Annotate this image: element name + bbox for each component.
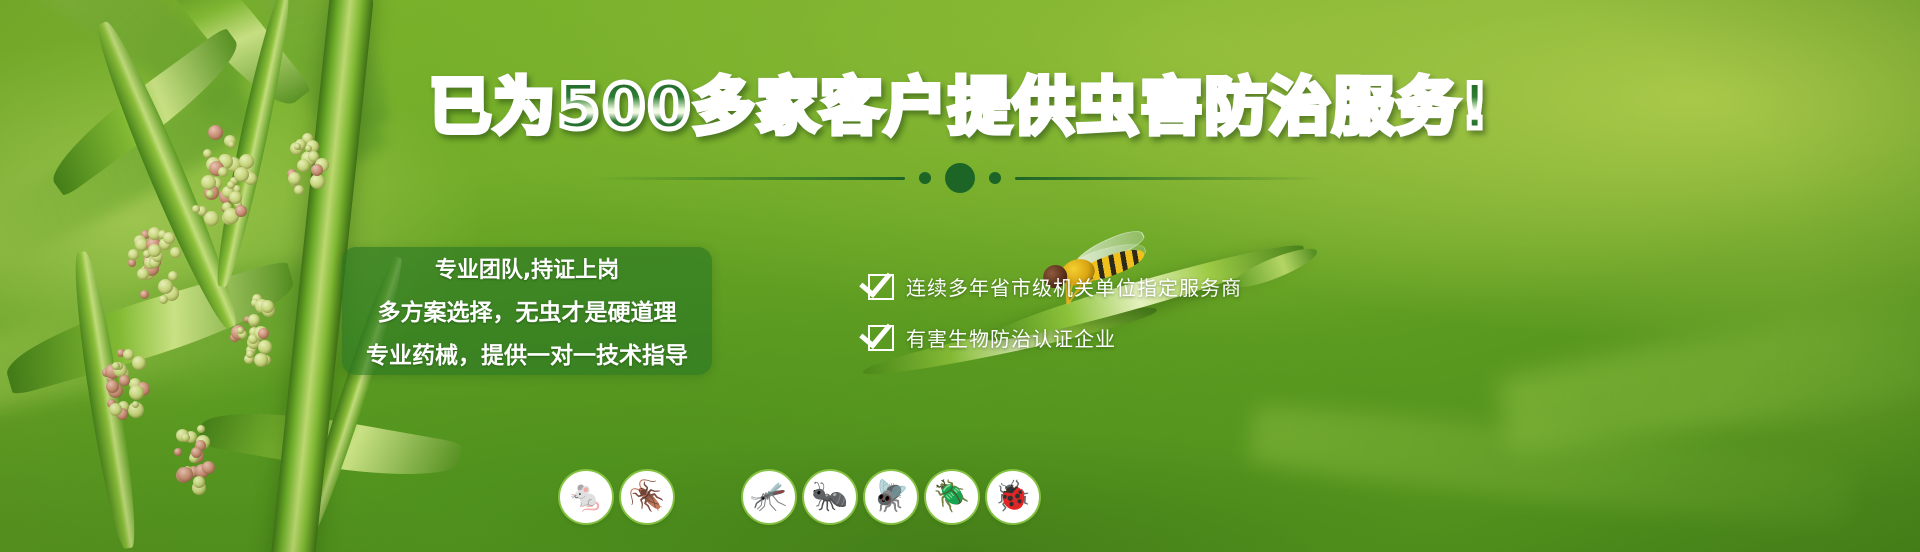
flower-bud: [191, 447, 202, 458]
flower-bud: [132, 356, 146, 370]
flower-bud: [132, 401, 139, 408]
flower-bud: [129, 385, 144, 400]
divider-dot-small-right: [989, 172, 1001, 184]
flower-bud: [202, 461, 215, 474]
credential-label: 连续多年省市级机关单位指定服务商: [906, 272, 1242, 301]
flower-bud: [163, 232, 175, 244]
flower-bud: [235, 205, 247, 217]
mouse-icon: 🐁: [567, 482, 604, 512]
headline-container: 已为500多家客户提供虫害防治服务!: [0, 74, 1920, 139]
checkbox-checked-icon: [868, 274, 894, 300]
flower-bud: [106, 380, 119, 393]
flower-bud: [128, 259, 136, 267]
pest-icon-ant[interactable]: 🐜: [804, 471, 856, 523]
flower-bud: [109, 403, 122, 416]
flower-bud: [159, 295, 168, 304]
flower-bud: [261, 300, 274, 313]
flower-bud: [123, 349, 134, 360]
checkbox-checked-icon: [868, 325, 894, 351]
pest-icon-mouse[interactable]: 🐁: [560, 471, 612, 523]
greenfly-icon: 🪰: [872, 482, 909, 512]
flower-bud: [137, 268, 149, 280]
divider-dot-small-left: [919, 172, 931, 184]
cockroach-icon: 🪳: [628, 482, 665, 512]
selling-point-line-2: 多方案选择，无虫才是硬道理: [352, 293, 702, 327]
divider-dot-large: [945, 163, 975, 193]
flower-bud: [181, 433, 190, 442]
headline-divider: [0, 162, 1920, 194]
flower-bud: [294, 143, 301, 150]
flower-bud: [246, 350, 254, 358]
pest-icon-greenfly[interactable]: 🪰: [865, 471, 917, 523]
flower-bud: [258, 340, 272, 354]
ant-icon: 🐜: [811, 482, 848, 512]
pest-control-hero-banner: 已为500多家客户提供虫害防治服务! 专业团队,持证上岗 多方案选择，无虫才是硬…: [0, 0, 1920, 552]
flower-bud: [140, 290, 149, 299]
tick-icon: 🐞: [994, 482, 1031, 512]
pest-icon-mosquito[interactable]: 🦟: [743, 471, 795, 523]
selling-point-line-3: 专业药械，提供一对一技术指导: [352, 336, 702, 370]
flower-bud: [228, 141, 235, 148]
list-item: 连续多年省市级机关单位指定服务商: [868, 272, 1242, 301]
flower-bud: [192, 205, 200, 213]
credential-label: 有害生物防治认证企业: [906, 323, 1116, 352]
flower-bud: [193, 476, 205, 488]
flower-bud: [204, 211, 219, 226]
pest-icon-row: 🐁 🪳 🪰 🦟 🐜 🪰 🪲 🐞: [560, 471, 1039, 523]
flower-bud: [254, 353, 268, 367]
flower-bud: [178, 467, 193, 482]
selling-points-text: 专业团队,持证上岗 多方案选择，无虫才是硬道理 专业药械，提供一对一技术指导: [342, 247, 712, 375]
flower-bud: [248, 314, 260, 326]
pest-icon-cockroach[interactable]: 🪳: [621, 471, 673, 523]
flower-bud: [170, 247, 181, 258]
selling-point-line-1: 专业团队,持证上岗: [352, 252, 702, 284]
credentials-list: 连续多年省市级机关单位指定服务商 有害生物防治认证企业: [868, 272, 1242, 352]
pest-icon-flea[interactable]: 🪲: [926, 471, 978, 523]
flea-icon: 🪲: [933, 482, 970, 512]
pest-icon-tick[interactable]: 🐞: [987, 471, 1039, 523]
flower-bud: [112, 362, 120, 370]
flower-bud: [128, 249, 139, 260]
divider-rule-left: [595, 177, 905, 180]
page-title: 已为500多家客户提供虫害防治服务!: [429, 74, 1491, 139]
flower-bud: [148, 244, 161, 257]
list-item: 有害生物防治认证企业: [868, 323, 1242, 352]
flower-bud: [305, 145, 312, 152]
flower-bud: [237, 327, 244, 334]
flower-bud: [258, 328, 269, 339]
flower-bud: [197, 425, 205, 433]
mosquito-icon: 🦟: [750, 482, 787, 512]
flower-bud: [158, 279, 173, 294]
flower-bud: [174, 448, 182, 456]
flower-bud: [119, 375, 130, 386]
divider-rule-right: [1015, 177, 1325, 180]
